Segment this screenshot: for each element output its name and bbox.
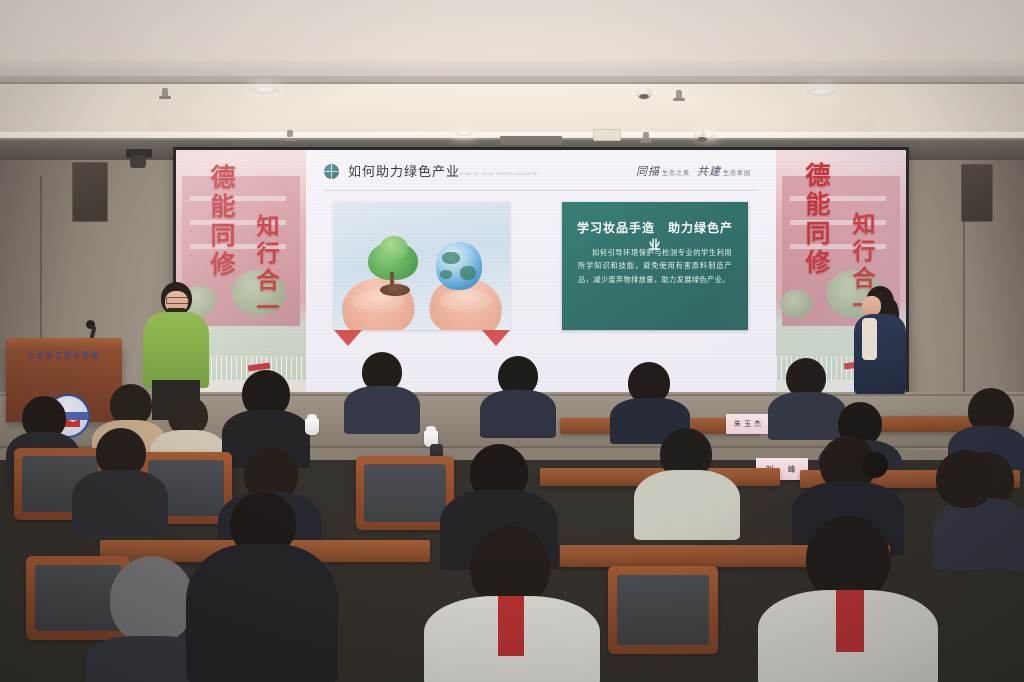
slogan-sub-2: 生态家园 (723, 171, 751, 177)
earth-globe-icon (436, 242, 482, 290)
green-card-body: 如何引导环境保护与检测专业的学生利用所学知识和技能，避免使用有害原料制造产品，减… (578, 246, 732, 286)
red-accent-left (334, 330, 362, 346)
slide-photo-card (334, 202, 510, 330)
audience-body (480, 390, 556, 438)
audience-body (344, 386, 420, 434)
audience-head (110, 556, 194, 644)
soil-clump (380, 284, 410, 296)
sprinkler-head (162, 88, 168, 98)
sprinkler-head (643, 132, 649, 139)
chair-cushion (35, 565, 121, 631)
presenter-left-body (143, 312, 209, 388)
wall-speaker-right (961, 164, 993, 222)
name-placard: 朱玉杰 (726, 414, 772, 434)
downlight (806, 88, 836, 96)
slogan-phrase-1: 同描 (636, 165, 660, 178)
downlight (250, 86, 280, 94)
audience-body (634, 470, 740, 540)
slogan-phrase-2: 共建 (697, 165, 721, 178)
slogan-sub-1: 生态之美 (662, 171, 690, 177)
tree-sapling-icon (364, 242, 422, 294)
slide-title: 如何助力绿色产业 (348, 161, 460, 180)
ceiling-vent (593, 129, 621, 141)
continent-shape (440, 270, 452, 279)
dome-camera-icon (636, 87, 652, 100)
slide-subtitle-faint: HOW TO HELP GREEN INDUSTRY (460, 171, 540, 176)
tree-crown-highlight (380, 236, 408, 260)
audience-head (936, 450, 994, 508)
slide-green-card: 学习妆品手造 助力绿色产业 如何引导环境保护与检测专业的学生利用所学知识和技能，… (562, 202, 748, 330)
audience-body (72, 470, 168, 536)
chair-cushion (364, 464, 446, 522)
ceiling-projector-rail (500, 136, 562, 145)
sprinkler-head (287, 130, 293, 137)
decal-calligraphy-secondary: 知行合一 (248, 214, 282, 364)
podium-sign-text: 山东轻工职业学院 (12, 350, 116, 360)
slide-header: 如何助力绿色产业 HOW TO HELP GREEN INDUSTRY 同描生态… (324, 160, 758, 190)
globe-icon (324, 164, 339, 179)
decal-calligraphy-primary: 德能同修 (798, 162, 834, 322)
conference-hall-photo: 德能同修 知行合一 德能同修 知行合一 (0, 0, 1024, 682)
audience-red-collar (836, 590, 864, 652)
red-accent-right (482, 330, 510, 346)
hair-bun (862, 452, 888, 478)
slide-header-divider (324, 190, 758, 191)
chair-cushion (617, 575, 709, 645)
palm-right (440, 290, 492, 312)
ceiling-projector (130, 155, 146, 168)
audience-body (186, 544, 338, 682)
audience-body (768, 392, 846, 440)
wall-speaker-left (72, 162, 108, 222)
audience-body (934, 498, 1024, 570)
continent-shape (442, 252, 460, 264)
tea-cup (305, 418, 319, 435)
downlight (455, 131, 473, 136)
slide-header-slogan: 同描生态之美共建生态家园 (636, 162, 758, 180)
presenter-right-face (862, 296, 881, 316)
continent-shape (460, 266, 476, 280)
chair[interactable] (608, 566, 718, 654)
presenter-right-shirt (862, 318, 877, 360)
glasses-icon (166, 297, 189, 304)
dome-camera-icon (694, 130, 705, 139)
podium-top-edge (6, 338, 122, 348)
decal-calligraphy-primary: 德能同修 (203, 164, 239, 324)
sprinkler-head (676, 90, 682, 100)
audience-red-collar (498, 596, 524, 656)
